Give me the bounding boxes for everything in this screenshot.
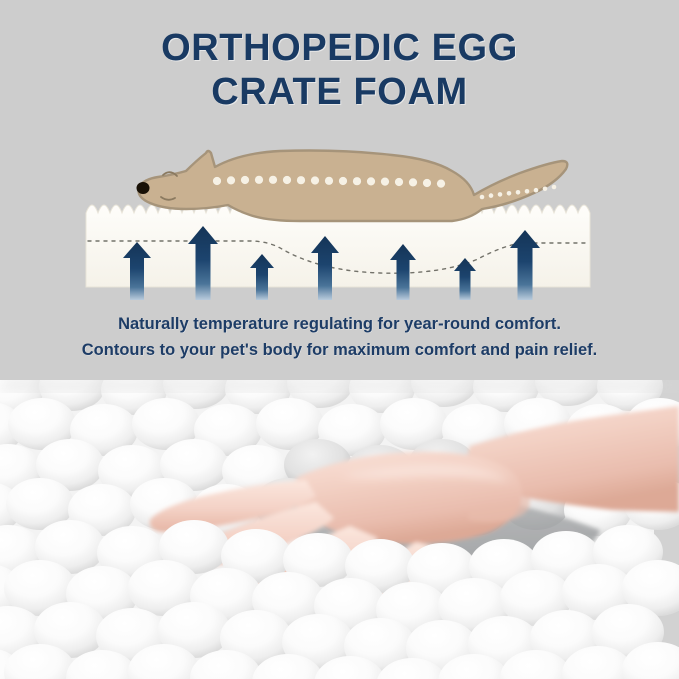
dog-on-foam-illustration <box>0 125 679 315</box>
caption-line-1: Naturally temperature regulating for yea… <box>0 312 679 338</box>
product-infographic: ORTHOPEDIC EGG CRATE FOAM <box>0 0 679 679</box>
title-line-1: ORTHOPEDIC EGG <box>0 26 679 70</box>
dog-nose-icon <box>137 182 150 194</box>
foam-closeup-photo <box>0 380 679 679</box>
illustration-panel: ORTHOPEDIC EGG CRATE FOAM <box>0 0 679 380</box>
egg-crate-foam-foreground <box>0 520 679 679</box>
title-line-2: CRATE FOAM <box>0 70 679 114</box>
caption-line-2: Contours to your pet's body for maximum … <box>0 338 679 364</box>
photo-top-blend <box>0 380 679 390</box>
caption-block: Naturally temperature regulating for yea… <box>0 312 679 363</box>
page-title: ORTHOPEDIC EGG CRATE FOAM <box>0 26 679 114</box>
